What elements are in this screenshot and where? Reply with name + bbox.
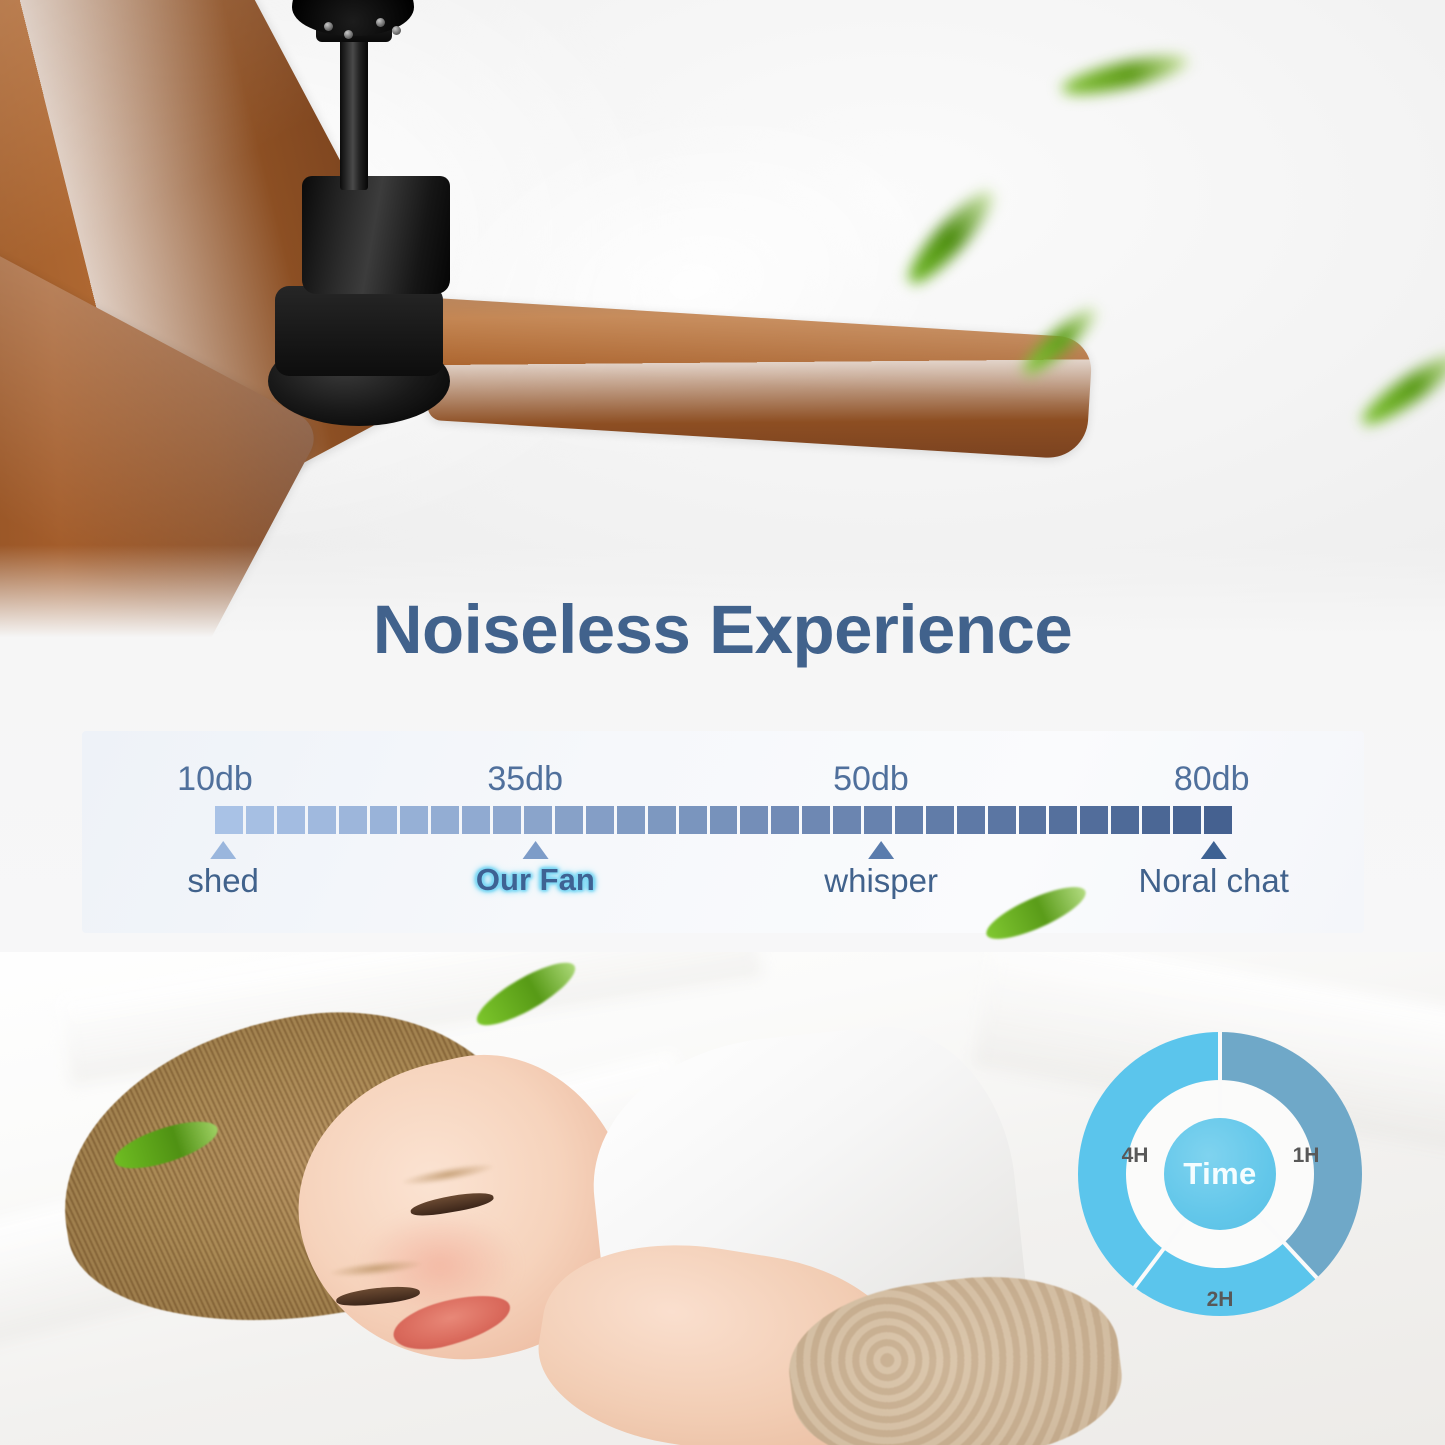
decibel-segment [1049, 806, 1077, 834]
decibel-bar [215, 806, 1232, 834]
decibel-segment [246, 806, 274, 834]
decibel-segment [215, 806, 243, 834]
fan-motor-housing [302, 176, 450, 294]
decibel-segment [710, 806, 738, 834]
marker-triangle-icon [1201, 841, 1227, 859]
timer-chart: Time 1H2H4H [1078, 1032, 1362, 1316]
decibel-segment [339, 806, 367, 834]
decibel-segment [648, 806, 676, 834]
decibel-segment [895, 806, 923, 834]
decibel-segment [431, 806, 459, 834]
marker-label: shed [187, 862, 259, 900]
decibel-segment [617, 806, 645, 834]
decibel-segment [802, 806, 830, 834]
leaf-decoration [1059, 48, 1192, 103]
decibel-segment [1111, 806, 1139, 834]
noise-marker: Our Fan [476, 841, 595, 898]
marker-label: Our Fan [476, 862, 595, 898]
noise-scale: 10db35db50db80db [0, 731, 1445, 941]
decibel-segment [524, 806, 552, 834]
timer-hour-label: 4H [1122, 1144, 1149, 1168]
decibel-segment [1019, 806, 1047, 834]
timer-hour-label: 1H [1293, 1144, 1320, 1168]
mount-screw [324, 22, 333, 31]
decibel-segment [1204, 806, 1232, 834]
mount-screw [376, 18, 385, 27]
marker-triangle-icon [868, 841, 894, 859]
decibel-segment [400, 806, 428, 834]
timer-center-label: Time [1183, 1156, 1256, 1192]
decibel-segment [308, 806, 336, 834]
decibel-segment [462, 806, 490, 834]
decibel-segment [864, 806, 892, 834]
decibel-segment [679, 806, 707, 834]
marker-label: Noral chat [1138, 862, 1288, 900]
db-tick-label: 35db [487, 760, 563, 799]
decibel-segment [740, 806, 768, 834]
decibel-segment [771, 806, 799, 834]
marker-triangle-icon [210, 841, 236, 859]
decibel-segment [1080, 806, 1108, 834]
product-infographic: Noiseless Experience 10db35db50db80db sh… [0, 0, 1445, 1445]
marker-label: whisper [824, 862, 938, 900]
noise-marker: whisper [824, 841, 938, 900]
fan-motor-body [275, 286, 443, 376]
page-title: Noiseless Experience [0, 595, 1445, 664]
mount-screw [344, 30, 353, 39]
mount-screw [392, 26, 401, 35]
decibel-segment [370, 806, 398, 834]
marker-triangle-icon [522, 841, 548, 859]
fan-downrod [340, 30, 368, 190]
timer-center-disc: Time [1164, 1118, 1276, 1230]
db-tick-label: 50db [833, 760, 909, 799]
noise-marker: Noral chat [1138, 841, 1288, 900]
decibel-segment [1173, 806, 1201, 834]
leaf-decoration [1355, 345, 1445, 434]
decibel-segment [493, 806, 521, 834]
decibel-segment [926, 806, 954, 834]
timer-hour-label: 2H [1207, 1288, 1234, 1312]
decibel-segment [1142, 806, 1170, 834]
db-tick-label: 10db [177, 760, 253, 799]
decibel-segment [957, 806, 985, 834]
decibel-segment [988, 806, 1016, 834]
decibel-segment [277, 806, 305, 834]
decibel-segment [555, 806, 583, 834]
decibel-segment [586, 806, 614, 834]
noise-marker: shed [187, 841, 259, 900]
decibel-segment [833, 806, 861, 834]
db-tick-label: 80db [1174, 760, 1250, 799]
